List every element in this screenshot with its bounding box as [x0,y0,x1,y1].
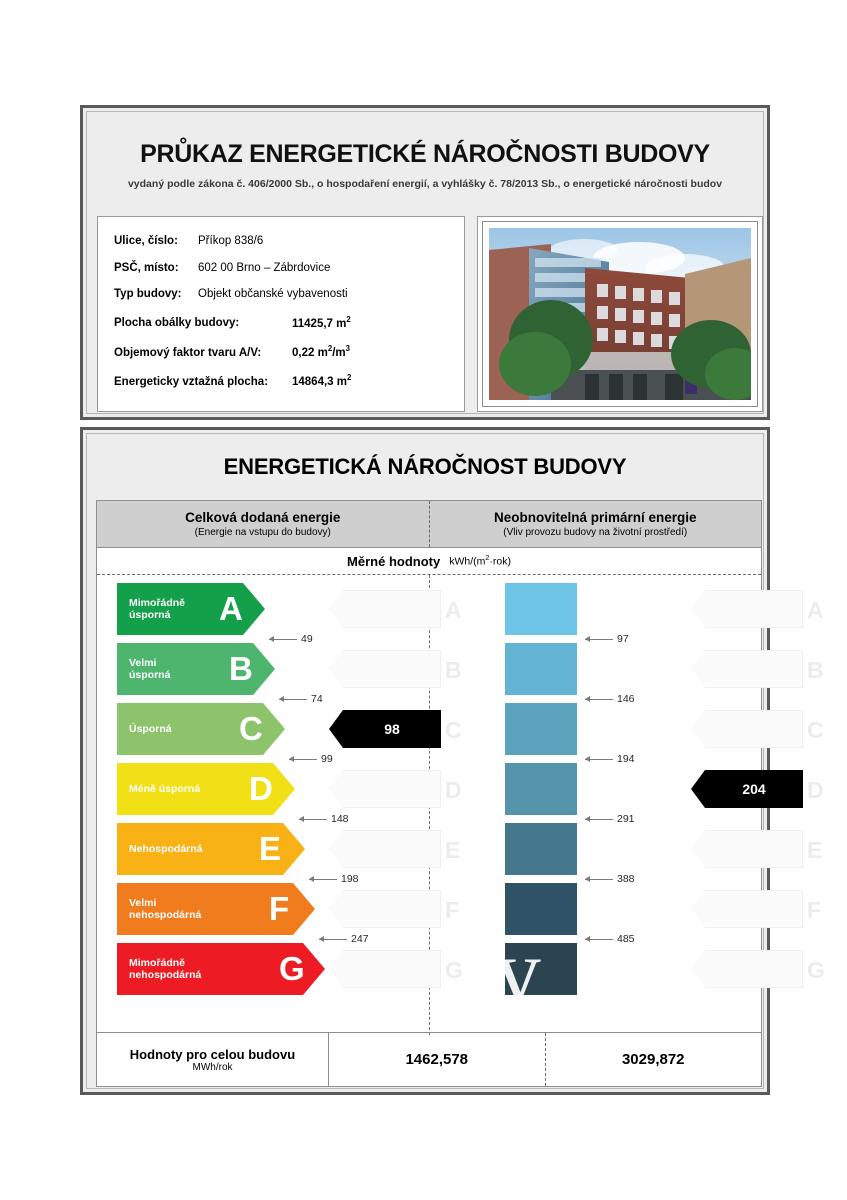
energy-performance-panel: ENERGETICKÁ NÁROČNOST BUDOVY Celková dod… [80,427,770,1095]
tick-arrow-icon [585,819,613,820]
tick-arrow-icon [585,759,613,760]
type-label: Typ budovy: [114,288,198,300]
type-value: Objekt občanské vybavenosti [198,288,348,300]
delivered-value-row-e: E [329,823,457,875]
threshold-tick-primary-485: 485 [585,933,635,945]
specific-unit-post: ·rok) [489,556,511,568]
totals-label-unit: MWh/rok [193,1062,233,1073]
delivered-value-text: 98 [343,721,441,737]
delivered-empty-marker-f [329,890,441,928]
shape-factor-unit: m [318,347,328,359]
primary-block-f [505,883,577,935]
total-delivered-energy: 1462,578 [329,1033,546,1086]
threshold-value: 485 [617,933,635,945]
delivered-empty-marker-e [329,830,441,868]
building-photo [489,228,751,400]
threshold-value: 291 [617,813,635,825]
threshold-tick-primary-146: 146 [585,693,635,705]
delivered-empty-marker-b [329,650,441,688]
band-label-f: Velmi nehospodárná [129,897,201,922]
primary-value-row-a: A [691,583,819,635]
delivered-value-column: AB98CDEFG [329,583,457,1003]
delivered-value-row-b: B [329,643,457,695]
column-header-primary-title: Neobnovitelná primární energie [494,510,697,525]
primary-value-row-f: F [691,883,819,935]
column-header-delivered-sub: (Energie na vstupu do budovy) [195,527,331,538]
section-title: ENERGETICKÁ NÁROČNOST BUDOVY [87,434,763,480]
primary-value-column: ABC204DEFG [691,583,819,1003]
delivered-empty-marker-a [329,590,441,628]
primary-energy-blocks: 97146194291388485 [505,583,577,1003]
zip-value: 602 00 Brno – Zábrdovice [198,262,330,274]
delivered-value-row-c: 98C [329,703,457,755]
tick-arrow-icon [289,759,317,760]
threshold-tick-primary-194: 194 [585,753,635,765]
delivered-value-row-d: D [329,763,457,815]
energy-class-band-b: Velmi úspornáB [117,643,317,695]
band-label-c: Úsporná [129,723,172,735]
band-letter-g: G [279,950,305,988]
totals-label: Hodnoty pro celou budovu MWh/rok [97,1033,329,1086]
delivered-empty-marker-g [329,950,441,988]
primary-ghost-letter-f: F [807,897,821,924]
primary-value-row-b: B [691,643,819,695]
primary-value-row-d: 204D [691,763,819,815]
delivered-ghost-letter-e: E [445,837,460,864]
shape-factor-number: 0,22 [292,347,314,359]
building-photo-image [489,228,751,400]
energy-scale-grid: Celková dodaná energie (Energie na vstup… [96,500,762,1087]
band-letter-e: E [259,830,281,868]
band-letter-d: D [249,770,273,808]
envelope-area-value: 11425,7 m2 [292,315,351,330]
primary-empty-marker-f [691,890,803,928]
shape-factor-value: 0,22 m2/m3 [292,344,350,359]
primary-empty-marker-b [691,650,803,688]
scale-area: Mimořádně úspornáA49Velmi úspornáB74Úspo… [97,575,761,1035]
primary-ghost-letter-d: D [807,777,824,804]
primary-block-a [505,583,577,635]
page-title: PRŮKAZ ENERGETICKÉ NÁROČNOSTI BUDOVY [87,140,763,169]
totals-row: Hodnoty pro celou budovu MWh/rok 1462,57… [97,1032,761,1086]
delivered-value-row-g: G [329,943,457,995]
energy-class-band-e: NehospodárnáE [117,823,317,875]
energy-class-bands: Mimořádně úspornáA49Velmi úspornáB74Úspo… [117,583,317,1003]
info-row-shape-factor: Objemový faktor tvaru A/V: 0,22 m2/m3 [114,344,464,359]
band-label-g: Mimořádně nehospodárná [129,957,201,982]
band-letter-c: C [239,710,263,748]
envelope-area-unit-sup: 2 [346,315,350,324]
specific-values-label: Měrné hodnoty [347,554,440,569]
zip-label: PSČ, místo: [114,262,198,274]
primary-block-b [505,643,577,695]
building-info: Ulice, číslo: Příkop 838/6 PSČ, místo: 6… [97,216,763,412]
page-subtitle: vydaný podle zákona č. 406/2000 Sb., o h… [87,178,763,190]
band-label-b: Velmi úsporná [129,657,170,682]
floor-area-value: 14864,3 m2 [292,373,351,388]
energy-class-band-f: Velmi nehospodárnáF [117,883,317,935]
primary-ghost-letter-e: E [807,837,822,864]
tick-arrow-icon [585,879,613,880]
info-row-floor-area: Energeticky vztažná plocha: 14864,3 m2 [114,373,464,388]
delivered-ghost-letter-c: C [445,717,462,744]
tick-arrow-icon [585,639,613,640]
building-photo-frame [477,216,763,412]
primary-ghost-letter-a: A [807,597,824,624]
floor-area-unit-sup: 2 [347,373,351,382]
totals-label-main: Hodnoty pro celou budovu [130,1047,295,1062]
floor-area-unit: m [337,376,347,388]
column-header-delivered-title: Celková dodaná energie [185,510,340,525]
primary-empty-marker-c [691,710,803,748]
delivered-ghost-letter-g: G [445,957,463,984]
total-primary-energy: 3029,872 [546,1033,762,1086]
primary-ghost-letter-b: B [807,657,824,684]
energy-class-band-d: Méně úspornáD [117,763,317,815]
band-letter-a: A [219,590,243,628]
primary-value-text: 204 [705,781,803,797]
shape-factor-unit-tail: /m [332,347,345,359]
scale-column-headers: Celková dodaná energie (Energie na vstup… [97,501,761,548]
certificate-page: PRŮKAZ ENERGETICKÉ NÁROČNOSTI BUDOVY vyd… [0,0,847,1200]
tick-arrow-icon [299,819,327,820]
tick-arrow-icon [269,639,297,640]
tick-arrow-icon [279,699,307,700]
delivered-value-row-f: F [329,883,457,935]
threshold-tick-primary-388: 388 [585,873,635,885]
energy-class-band-g: Mimořádně nehospodárnáG [117,943,317,995]
info-row-street: Ulice, číslo: Příkop 838/6 [114,235,464,247]
tick-arrow-icon [585,939,613,940]
envelope-area-label: Plocha obálky budovy: [114,317,292,329]
band-label-a: Mimořádně úsporná [129,597,185,622]
info-row-zip: PSČ, místo: 602 00 Brno – Zábrdovice [114,262,464,274]
tick-arrow-icon [585,699,613,700]
primary-block-g [505,943,577,995]
delivered-value-row-a: A [329,583,457,635]
building-info-table: Ulice, číslo: Příkop 838/6 PSČ, místo: 6… [97,216,465,412]
primary-ghost-letter-g: G [807,957,825,984]
delivered-ghost-letter-f: F [445,897,459,924]
primary-block-c [505,703,577,755]
threshold-tick-primary-97: 97 [585,633,629,645]
primary-ghost-letter-c: C [807,717,824,744]
street-label: Ulice, číslo: [114,235,198,247]
shape-factor-unit-sup2: 3 [346,344,350,353]
primary-value-row-g: G [691,943,819,995]
band-letter-f: F [269,890,289,928]
threshold-value: 194 [617,753,635,765]
shape-factor-label: Objemový faktor tvaru A/V: [114,347,292,359]
envelope-area-number: 11425,7 [292,317,333,329]
info-row-type: Typ budovy: Objekt občanské vybavenosti [114,288,464,300]
column-header-primary-sub: (Vliv provozu budovy na životní prostřed… [503,527,687,538]
energy-class-band-a: Mimořádně úspornáA [117,583,317,635]
column-header-primary: Neobnovitelná primární energie (Vliv pro… [430,501,762,547]
delivered-ghost-letter-b: B [445,657,462,684]
specific-values-row: Měrné hodnoty kWh/(m2·rok) [97,548,761,575]
info-row-envelope-area: Plocha obálky budovy: 11425,7 m2 [114,315,464,330]
column-header-delivered: Celková dodaná energie (Energie na vstup… [97,501,430,547]
threshold-value: 97 [617,633,629,645]
primary-empty-marker-a [691,590,803,628]
specific-values-unit: kWh/(m2·rok) [449,554,511,568]
threshold-tick-primary-291: 291 [585,813,635,825]
primary-block-e [505,823,577,875]
primary-value-row-e: E [691,823,819,875]
delivered-empty-marker-d [329,770,441,808]
band-label-d: Méně úsporná [129,783,200,795]
band-letter-b: B [229,650,253,688]
primary-empty-marker-g [691,950,803,988]
threshold-value: 388 [617,873,635,885]
specific-unit-pre: kWh/(m [449,556,485,568]
energy-class-band-c: ÚspornáC [117,703,317,755]
threshold-value: 146 [617,693,635,705]
delivered-ghost-letter-d: D [445,777,462,804]
envelope-area-unit: m [336,317,346,329]
header-panel: PRŮKAZ ENERGETICKÉ NÁROČNOSTI BUDOVY vyd… [80,105,770,420]
delivered-ghost-letter-a: A [445,597,462,624]
primary-empty-marker-e [691,830,803,868]
floor-area-number: 14864,3 [292,376,334,388]
floor-area-label: Energeticky vztažná plocha: [114,376,292,388]
primary-value-row-c: C [691,703,819,755]
band-label-e: Nehospodárná [129,843,203,855]
primary-block-d [505,763,577,815]
street-value: Příkop 838/6 [198,235,263,247]
